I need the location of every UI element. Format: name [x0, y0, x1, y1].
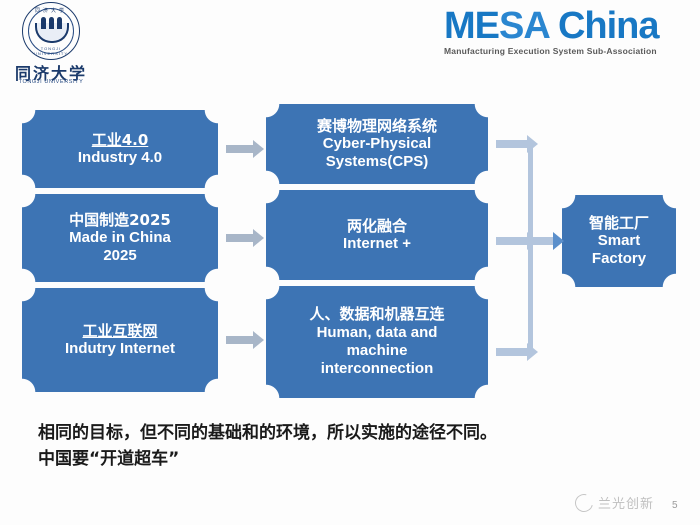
watermark: 兰光创新: [575, 493, 654, 512]
languang-logo-icon: [572, 490, 597, 515]
node-made-in-china-2025: 中国制造2025 Made in China 2025: [22, 194, 218, 282]
arrow-indinternet-to-hdm: [226, 336, 254, 344]
arrow-hdm-to-rail: [496, 348, 528, 356]
node-internet-plus-en: Internet +: [343, 235, 411, 253]
node-industry-40-en: Industry 4.0: [78, 149, 162, 167]
node-industry-internet: 工业互联网 Indutry Internet: [22, 288, 218, 392]
node-industry-40-cn: 工业4.0: [92, 131, 149, 149]
arrow-cps-to-rail: [496, 140, 528, 148]
arrow-rail-to-smart-factory: [530, 237, 554, 245]
node-smart-factory-cn: 智能工厂: [589, 214, 649, 232]
node-hdm-en1: Human, data and: [317, 324, 438, 342]
node-industry-internet-cn: 工业互联网: [82, 322, 157, 340]
node-smart-factory-en1: Smart: [598, 232, 641, 250]
node-made-in-china-cn: 中国制造2025: [69, 211, 171, 229]
node-hdm-cn: 人、数据和机器互连: [309, 305, 444, 323]
node-made-in-china-en1: Made in China: [69, 229, 171, 247]
caption-line-2: 中国要“开道超车”: [38, 446, 658, 472]
caption-line-1: 相同的目标，但不同的基础和的环境，所以实施的途径不同。: [38, 420, 658, 446]
node-industry-40: 工业4.0 Industry 4.0: [22, 110, 218, 188]
caption-block: 相同的目标，但不同的基础和的环境，所以实施的途径不同。 中国要“开道超车”: [38, 420, 658, 473]
node-smart-factory-en2: Factory: [592, 250, 646, 268]
node-made-in-china-en2: 2025: [103, 247, 136, 265]
node-cps-en1: Cyber-Physical: [323, 135, 431, 153]
arrow-internetplus-to-rail: [496, 237, 528, 245]
node-hdm-en3: interconnection: [321, 360, 434, 378]
arrow-madeinchina-to-internetplus: [226, 234, 254, 242]
node-industry-internet-en: Indutry Internet: [65, 340, 175, 358]
node-cps-en2: Systems(CPS): [326, 153, 429, 171]
node-internet-plus-cn: 两化融合: [347, 217, 407, 235]
page-number: 5: [672, 500, 678, 511]
node-cps-cn: 赛博物理网络系统: [317, 117, 437, 135]
node-cyber-physical-systems: 赛博物理网络系统 Cyber-Physical Systems(CPS): [266, 104, 488, 184]
arrow-industry40-to-cps: [226, 145, 254, 153]
node-smart-factory: 智能工厂 Smart Factory: [562, 195, 676, 287]
vertical-connector-rail: [528, 140, 533, 356]
node-human-data-machine: 人、数据和机器互连 Human, data and machine interc…: [266, 286, 488, 398]
watermark-text: 兰光创新: [598, 493, 654, 512]
node-hdm-en2: machine: [347, 342, 408, 360]
node-internet-plus: 两化融合 Internet +: [266, 190, 488, 280]
slide-canvas: 同济大学 TONGJI UNIVERSITY 同济大学 TONGJI UNIVE…: [0, 0, 700, 525]
